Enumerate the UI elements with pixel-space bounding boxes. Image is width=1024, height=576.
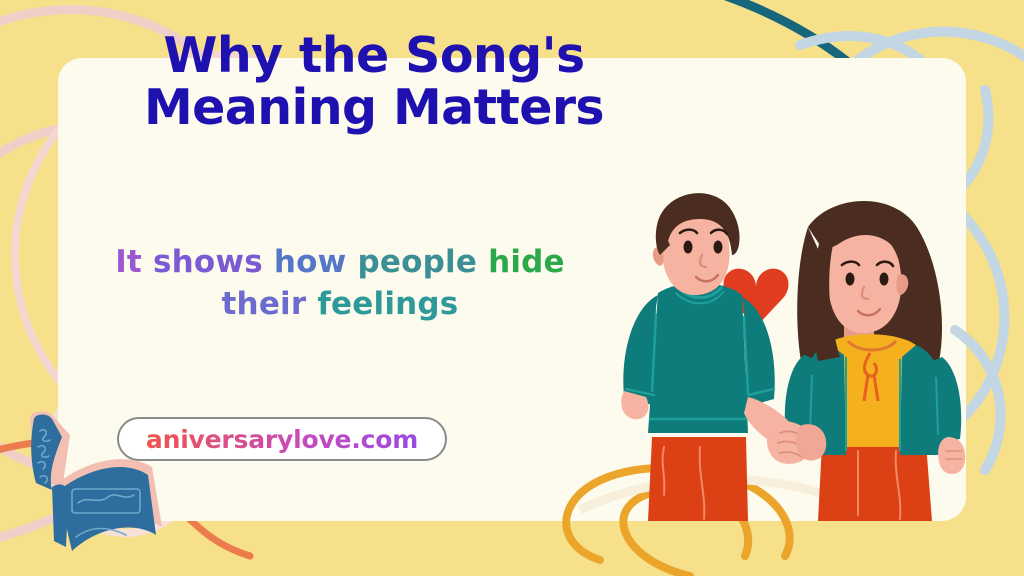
poster-canvas: Why the Song's Meaning Matters It shows … (0, 0, 1024, 576)
man-figure (621, 193, 826, 521)
woman-figure (785, 201, 965, 521)
page-subtitle: It shows how people hide their feelings (40, 242, 640, 326)
subtitle-word-0: It (115, 244, 142, 280)
page-title: Why the Song's Meaning Matters (74, 30, 674, 135)
subtitle-word-6: feelings (317, 286, 458, 322)
subtitle-word-1: shows (153, 244, 263, 280)
subtitle-word-2: how (274, 244, 347, 280)
subtitle-word-5: their (222, 286, 307, 322)
couple-holding-hands-illustration (596, 175, 976, 521)
subtitle-word-3: people (358, 244, 478, 280)
open-book-illustration (0, 395, 200, 576)
subtitle-word-4: hide (488, 244, 565, 280)
